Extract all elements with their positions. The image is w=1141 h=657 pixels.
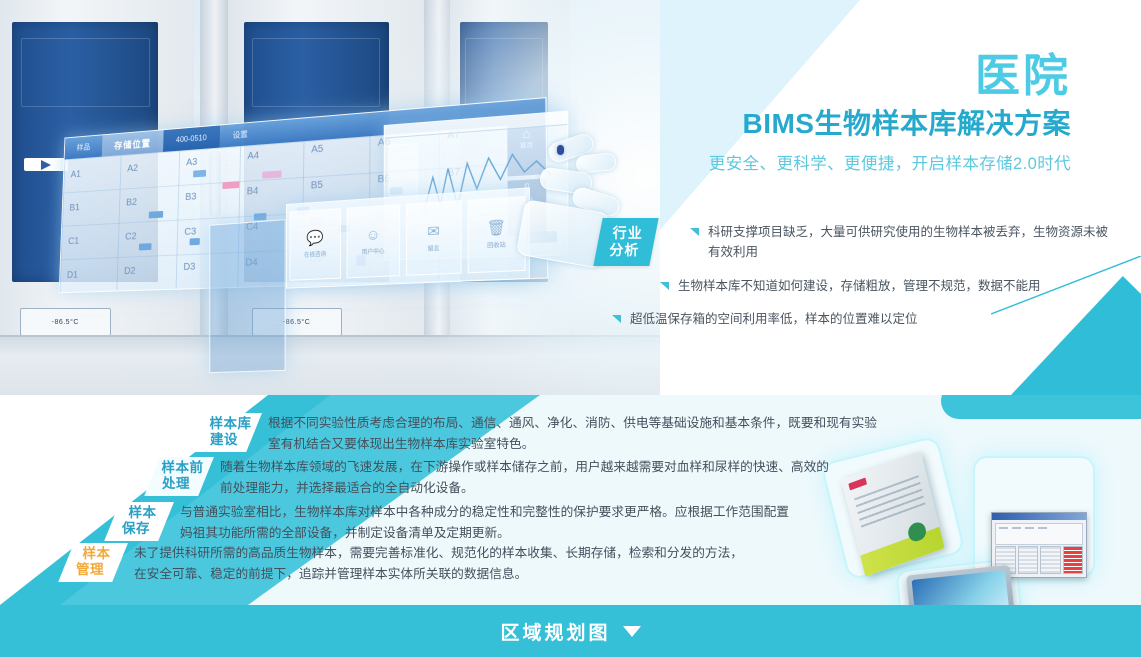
chat-icon[interactable]: 💬在线咨询 — [290, 208, 341, 281]
page-tagline: 更安全、更科学、更便捷，开启样本存储2.0时代 — [709, 150, 1071, 174]
triangle-bullet-icon — [660, 282, 669, 290]
triangle-bullet-icon — [690, 228, 699, 236]
trash-icon[interactable]: 🗑回收站 — [468, 196, 526, 273]
brand-logo-icon — [24, 158, 68, 171]
page-root: -86.5°C -86.5°C 样品 — [0, 0, 1141, 657]
category-description: 与普通实验室相比，生物样本库对样本中各种成分的稳定性和完整性的保护要求更严格。应… — [180, 502, 792, 544]
bullet-text: 生物样本库不知道如何建设，存储粗放，管理不规范，数据不能用 — [678, 276, 1041, 296]
category-label: 样本库 建设 — [192, 413, 262, 452]
holo-tab-settings[interactable]: 设置 — [219, 122, 261, 148]
face-icon[interactable]: ☺用户中心 — [347, 204, 400, 278]
solution-overview-section: 样本库 建设 根据不同实验性质考虑合理的布局、通信、通风、净化、消防、供电等基础… — [0, 395, 1141, 605]
category-row-sample-pretreatment: 样本前 处理 随着生物样本库领域的飞速发展，在下游操作或样本储存之前，用户越来越… — [152, 457, 832, 499]
grid-marker — [190, 238, 200, 245]
grid-marker — [193, 170, 206, 178]
grid-cell-c2[interactable]: C2 — [125, 231, 137, 242]
grid-cell-a3[interactable]: A3 — [186, 157, 197, 168]
holo-side-panel — [209, 219, 285, 373]
grid-cell-b3[interactable]: B3 — [185, 192, 196, 203]
industry-analysis-bullets: 科研支撑项目缺乏，大量可供研究使用的生物样本被丢弃，生物资源未被有效利用 生物样… — [690, 222, 1110, 342]
category-row-sample-preservation: 样本 保存 与普通实验室相比，生物样本库对样本中各种成分的稳定性和完整性的保护要… — [112, 502, 792, 544]
hero-headline-block: 医院 BIMS生物样本库解决方案 更安全、更科学、更便捷，开启样本存储2.0时代 — [709, 52, 1071, 174]
mail-icon[interactable]: ✉留言 — [406, 200, 462, 276]
category-label: 样本 管理 — [58, 543, 128, 582]
grid-cell-c3[interactable]: C3 — [184, 226, 196, 237]
grid-marker — [139, 243, 152, 250]
category-description: 未了提供科研所需的高品质生物样本，需要完善标准化、规范化的样本收集、长期存储，检… — [134, 543, 746, 585]
grid-cell-a1[interactable]: A1 — [70, 169, 81, 180]
bullet-text: 超低温保存箱的空间利用率低，样本的位置难以定位 — [630, 309, 918, 329]
page-subtitle: BIMS生物样本库解决方案 — [709, 102, 1071, 142]
grid-cell-b4[interactable]: B4 — [247, 186, 259, 198]
grid-marker — [149, 211, 164, 218]
grid-cell-b1[interactable]: B1 — [69, 203, 80, 214]
hero-section: -86.5°C -86.5°C 样品 — [0, 0, 1141, 395]
bullet-item: 生物样本库不知道如何建设，存储粗放，管理不规范，数据不能用 — [660, 276, 1110, 296]
category-description: 随着生物样本库领域的飞速发展，在下游操作或样本储存之前，用户越来越需要对血样和尿… — [220, 457, 832, 499]
grid-cell-a2[interactable]: A2 — [127, 163, 138, 174]
grid-cell-a5[interactable]: A5 — [311, 144, 323, 156]
bullet-item: 超低温保存箱的空间利用率低，样本的位置难以定位 — [612, 309, 1110, 329]
freezer-temperature-display: -86.5°C — [20, 308, 111, 336]
category-rows: 样本库 建设 根据不同实验性质考虑合理的布局、通信、通风、净化、消防、供电等基础… — [0, 395, 1141, 605]
grid-cell-b2[interactable]: B2 — [126, 197, 137, 208]
holo-tab-sample[interactable]: 样品 — [65, 135, 103, 159]
bullet-item: 科研支撑项目缺乏，大量可供研究使用的生物样本被丢弃，生物资源未被有效利用 — [690, 222, 1110, 263]
category-description: 根据不同实验性质考虑合理的布局、通信、通风、净化、消防、供电等基础设施和基本条件… — [268, 413, 880, 455]
page-title: 医院 — [709, 52, 1071, 99]
category-row-sample-library-construction: 样本库 建设 根据不同实验性质考虑合理的布局、通信、通风、净化、消防、供电等基础… — [200, 413, 880, 455]
grid-cell-d3[interactable]: D3 — [183, 262, 195, 273]
industry-analysis-badge: 行业 分析 — [593, 218, 658, 266]
holo-quick-actions-panel[interactable]: 💬在线咨询 ☺用户中心 ✉留言 🗑回收站 — [286, 187, 530, 288]
grid-cell-d2[interactable]: D2 — [124, 266, 136, 277]
category-row-sample-management: 样本 管理 未了提供科研所需的高品质生物样本，需要完善标准化、规范化的样本收集、… — [66, 543, 746, 585]
triangle-bullet-icon — [612, 315, 621, 323]
grid-marker — [222, 181, 239, 189]
grid-cell-c1[interactable]: C1 — [68, 236, 79, 247]
caret-down-icon[interactable] — [623, 626, 641, 637]
grid-marker — [262, 170, 281, 178]
grid-cell-d1[interactable]: D1 — [67, 270, 78, 281]
bullet-text: 科研支撑项目缺乏，大量可供研究使用的生物样本被丢弃，生物资源未被有效利用 — [708, 222, 1110, 263]
category-label: 样本 保存 — [104, 502, 174, 541]
footer-label: 区域规划图 — [500, 618, 610, 645]
footer-cta-bar[interactable]: 区域规划图 — [0, 605, 1141, 657]
grid-cell-a4[interactable]: A4 — [247, 150, 259, 162]
category-label: 样本前 处理 — [144, 457, 214, 496]
grid-cell-b5[interactable]: B5 — [311, 180, 323, 192]
grid-marker — [254, 213, 267, 221]
